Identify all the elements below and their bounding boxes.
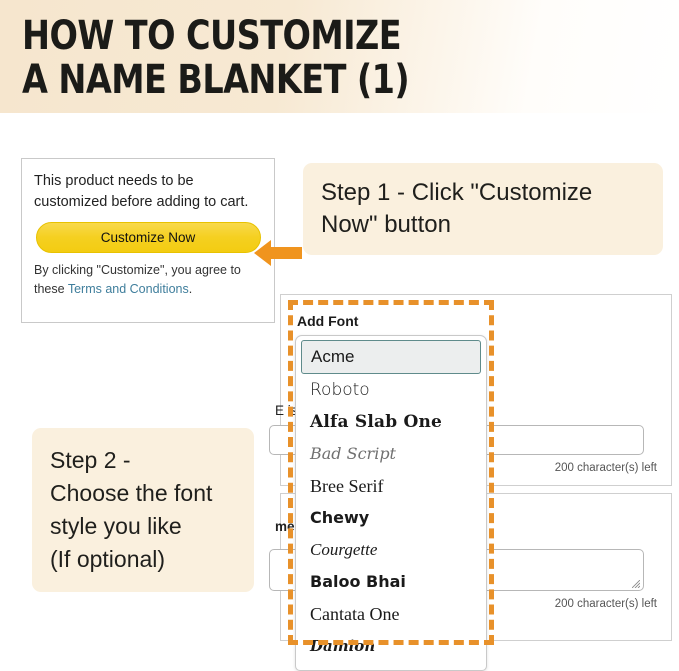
note-char-counter: 200 character(s) left xyxy=(555,598,657,610)
font-option-courgette[interactable]: Courgette xyxy=(296,534,486,566)
callout-step-1: Step 1 - Click "Customize Now" button xyxy=(303,163,663,255)
font-option-bad-script[interactable]: Bad Script xyxy=(296,438,486,470)
terms-and-conditions-link[interactable]: Terms and Conditions xyxy=(68,282,189,296)
font-option-bree-serif[interactable]: Bree Serif xyxy=(296,470,486,502)
customize-now-button[interactable]: Customize Now xyxy=(36,222,261,253)
font-select-widget: Add Font Acme Roboto Alfa Slab One Bad S… xyxy=(295,313,487,671)
font-option-acme[interactable]: Acme xyxy=(301,340,481,374)
page-title: HOW TO CUSTOMIZE A NAME BLANKET (1) xyxy=(22,14,617,102)
font-option-alfa-slab-one[interactable]: Alfa Slab One xyxy=(296,406,486,438)
resize-handle-icon[interactable] xyxy=(632,580,640,588)
font-option-chewy[interactable]: Chewy xyxy=(296,502,486,534)
callout-step-2: Step 2 - Choose the font style you like … xyxy=(32,428,254,592)
font-options-listbox[interactable]: Acme Roboto Alfa Slab One Bad Script Bre… xyxy=(295,335,487,671)
font-option-baloo-bhai[interactable]: Baloo Bhai xyxy=(296,566,486,598)
left-pointing-arrow-icon xyxy=(254,238,302,268)
font-option-damion[interactable]: Damion xyxy=(296,630,486,662)
name-char-counter: 200 character(s) left xyxy=(555,462,657,474)
terms-agreement-text: By clicking "Customize", you agree to th… xyxy=(34,261,262,299)
customize-notice-text: This product needs to be customized befo… xyxy=(34,171,262,213)
font-option-roboto[interactable]: Roboto xyxy=(296,374,486,406)
add-font-label: Add Font xyxy=(297,313,487,329)
terms-agreement-suffix: . xyxy=(189,282,192,296)
customize-product-box: This product needs to be customized befo… xyxy=(21,158,275,323)
header-banner: HOW TO CUSTOMIZE A NAME BLANKET (1) xyxy=(0,0,679,113)
font-option-cantata-one[interactable]: Cantata One xyxy=(296,598,486,630)
